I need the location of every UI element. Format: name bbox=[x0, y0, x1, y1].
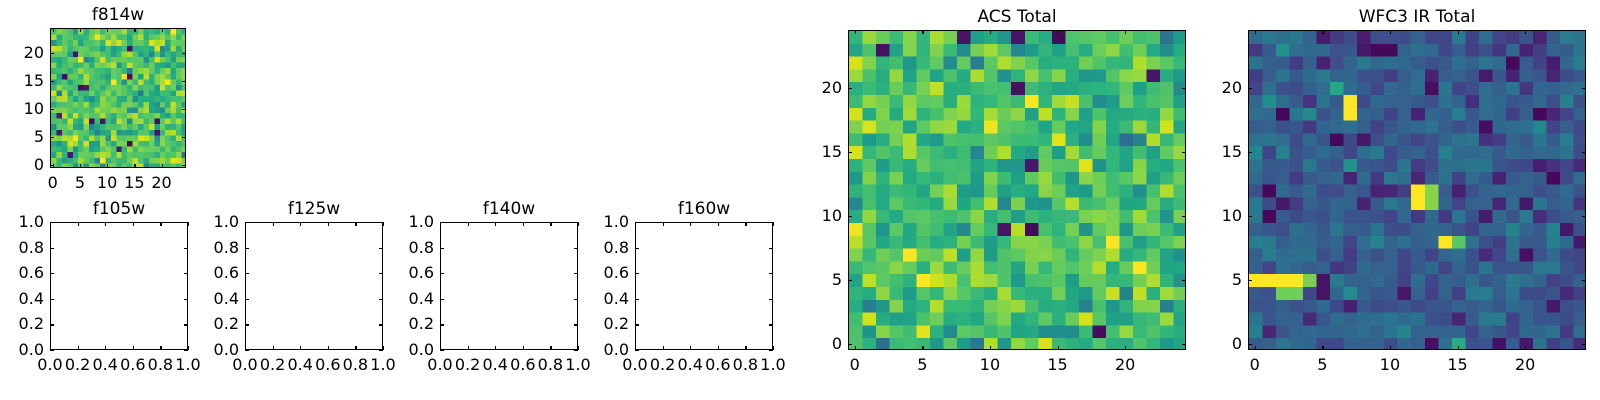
heatmap-image-wfc3-ir-total bbox=[1249, 31, 1586, 350]
xticklabel-wfc3-ir-total-3: 15 bbox=[1447, 357, 1467, 373]
yticklabel-f140w-1: 0.2 bbox=[392, 316, 434, 332]
yticklabel-f814w-4: 20 bbox=[2, 45, 44, 61]
yticklabel-wfc3-ir-total-1: 5 bbox=[1200, 272, 1242, 288]
ytick-f160w-0 bbox=[635, 350, 639, 351]
subplot-title-f140w: f140w bbox=[440, 200, 578, 218]
yticklabel-f814w-3: 15 bbox=[2, 73, 44, 89]
xtick-top-f160w-5 bbox=[773, 222, 774, 226]
xticklabel-f105w-1: 0.2 bbox=[65, 357, 90, 373]
xticklabel-f125w-4: 0.8 bbox=[343, 357, 368, 373]
yticklabel-wfc3-ir-total-0: 0 bbox=[1200, 336, 1242, 352]
yticklabel-f140w-4: 0.8 bbox=[392, 240, 434, 256]
yticklabel-wfc3-ir-total-2: 10 bbox=[1200, 208, 1242, 224]
yticklabel-f814w-2: 10 bbox=[2, 101, 44, 117]
yticklabel-f160w-3: 0.6 bbox=[587, 265, 629, 281]
xticklabel-f125w-3: 0.6 bbox=[315, 357, 340, 373]
subplot-wfc3-ir-total: WFC3 IR Total0510152005101520 bbox=[0, 0, 1600, 400]
yticklabel-f105w-4: 0.8 bbox=[2, 240, 44, 256]
yticklabel-f140w-5: 1.0 bbox=[392, 214, 434, 230]
xtick-f105w-5 bbox=[188, 346, 189, 350]
xticklabel-f105w-4: 0.8 bbox=[148, 357, 173, 373]
yticklabel-f125w-0: 0.0 bbox=[197, 342, 239, 358]
xtick-top-f125w-5 bbox=[383, 222, 384, 226]
yticklabel-f105w-3: 0.6 bbox=[2, 265, 44, 281]
ytick-right-f125w-0 bbox=[379, 350, 383, 351]
yticklabel-acs-total-4: 20 bbox=[800, 80, 842, 96]
yticklabel-f140w-3: 0.6 bbox=[392, 265, 434, 281]
yticklabel-f140w-2: 0.4 bbox=[392, 291, 434, 307]
xticklabel-f160w-2: 0.4 bbox=[677, 357, 702, 373]
xticklabel-f814w-2: 10 bbox=[97, 175, 117, 191]
xticklabel-f125w-0: 0.0 bbox=[232, 357, 257, 373]
yticklabel-acs-total-2: 10 bbox=[800, 208, 842, 224]
xticklabel-f105w-3: 0.6 bbox=[120, 357, 145, 373]
xticklabel-f814w-0: 0 bbox=[48, 175, 58, 191]
xticklabel-f105w-0: 0.0 bbox=[37, 357, 62, 373]
xticklabel-wfc3-ir-total-2: 10 bbox=[1380, 357, 1400, 373]
yticklabel-f125w-5: 1.0 bbox=[197, 214, 239, 230]
ytick-f105w-0 bbox=[50, 350, 54, 351]
ytick-right-f160w-0 bbox=[769, 350, 773, 351]
subplot-title-f814w: f814w bbox=[50, 6, 186, 24]
axes-f814w[interactable] bbox=[50, 28, 186, 168]
axes-f125w[interactable] bbox=[245, 222, 383, 350]
yticklabel-f125w-4: 0.8 bbox=[197, 240, 239, 256]
yticklabel-f160w-5: 1.0 bbox=[587, 214, 629, 230]
yticklabel-f105w-1: 0.2 bbox=[2, 316, 44, 332]
yticklabel-wfc3-ir-total-3: 15 bbox=[1200, 144, 1242, 160]
subplot-title-wfc3-ir-total: WFC3 IR Total bbox=[1248, 8, 1586, 26]
xticklabel-acs-total-4: 20 bbox=[1115, 357, 1135, 373]
xticklabel-acs-total-0: 0 bbox=[850, 357, 860, 373]
ytick-right-f105w-0 bbox=[184, 350, 188, 351]
yticklabel-f105w-2: 0.4 bbox=[2, 291, 44, 307]
xticklabel-f160w-0: 0.0 bbox=[622, 357, 647, 373]
yticklabel-f814w-1: 5 bbox=[2, 129, 44, 145]
xtick-f160w-5 bbox=[773, 346, 774, 350]
xticklabel-f140w-4: 0.8 bbox=[538, 357, 563, 373]
yticklabel-f105w-5: 1.0 bbox=[2, 214, 44, 230]
yticklabel-wfc3-ir-total-4: 20 bbox=[1200, 80, 1242, 96]
yticklabel-f125w-1: 0.2 bbox=[197, 316, 239, 332]
matplotlib-figure: f814w0510152005101520f105w0.00.20.40.60.… bbox=[0, 0, 1600, 400]
xticklabel-wfc3-ir-total-0: 0 bbox=[1250, 357, 1260, 373]
yticklabel-f160w-2: 0.4 bbox=[587, 291, 629, 307]
yticklabel-f125w-2: 0.4 bbox=[197, 291, 239, 307]
yticklabel-f160w-4: 0.8 bbox=[587, 240, 629, 256]
heatmap-image-f814w bbox=[51, 29, 186, 168]
yticklabel-acs-total-3: 15 bbox=[800, 144, 842, 160]
xticklabel-f105w-5: 1.0 bbox=[175, 357, 200, 373]
xticklabel-f814w-1: 5 bbox=[75, 175, 85, 191]
xticklabel-f105w-2: 0.4 bbox=[92, 357, 117, 373]
yticklabel-f160w-1: 0.2 bbox=[587, 316, 629, 332]
xticklabel-f125w-2: 0.4 bbox=[287, 357, 312, 373]
xticklabel-f125w-1: 0.2 bbox=[260, 357, 285, 373]
xticklabel-f160w-5: 1.0 bbox=[760, 357, 785, 373]
xticklabel-f140w-0: 0.0 bbox=[427, 357, 452, 373]
xtick-top-f140w-5 bbox=[578, 222, 579, 226]
ytick-f125w-0 bbox=[245, 350, 249, 351]
subplot-title-f125w: f125w bbox=[245, 200, 383, 218]
axes-wfc3-ir-total[interactable] bbox=[1248, 30, 1586, 350]
xticklabel-f125w-5: 1.0 bbox=[370, 357, 395, 373]
xticklabel-f160w-4: 0.8 bbox=[733, 357, 758, 373]
xticklabel-f814w-4: 20 bbox=[151, 175, 171, 191]
xticklabel-acs-total-3: 15 bbox=[1047, 357, 1067, 373]
yticklabel-f160w-0: 0.0 bbox=[587, 342, 629, 358]
xticklabel-f140w-5: 1.0 bbox=[565, 357, 590, 373]
xticklabel-f160w-1: 0.2 bbox=[650, 357, 675, 373]
xticklabel-f160w-3: 0.6 bbox=[705, 357, 730, 373]
xticklabel-f140w-2: 0.4 bbox=[482, 357, 507, 373]
xtick-f140w-5 bbox=[578, 346, 579, 350]
xticklabel-wfc3-ir-total-4: 20 bbox=[1515, 357, 1535, 373]
xticklabel-f140w-3: 0.6 bbox=[510, 357, 535, 373]
xtick-top-f105w-5 bbox=[188, 222, 189, 226]
yticklabel-f814w-0: 0 bbox=[2, 157, 44, 173]
subplot-title-acs-total: ACS Total bbox=[848, 8, 1186, 26]
yticklabel-f125w-3: 0.6 bbox=[197, 265, 239, 281]
ytick-right-f140w-0 bbox=[574, 350, 578, 351]
xticklabel-wfc3-ir-total-1: 5 bbox=[1317, 357, 1327, 373]
xticklabel-acs-total-2: 10 bbox=[980, 357, 1000, 373]
yticklabel-f105w-0: 0.0 bbox=[2, 342, 44, 358]
yticklabel-f140w-0: 0.0 bbox=[392, 342, 434, 358]
axes-acs-total[interactable] bbox=[848, 30, 1186, 350]
axes-f140w[interactable] bbox=[440, 222, 578, 350]
yticklabel-acs-total-1: 5 bbox=[800, 272, 842, 288]
axes-f105w[interactable] bbox=[50, 222, 188, 350]
xticklabel-f140w-1: 0.2 bbox=[455, 357, 480, 373]
subplot-title-f160w: f160w bbox=[635, 200, 773, 218]
xticklabel-f814w-3: 15 bbox=[124, 175, 144, 191]
ytick-f140w-0 bbox=[440, 350, 444, 351]
xtick-f125w-5 bbox=[383, 346, 384, 350]
yticklabel-acs-total-0: 0 bbox=[800, 336, 842, 352]
xticklabel-acs-total-1: 5 bbox=[917, 357, 927, 373]
heatmap-image-acs-total bbox=[849, 31, 1186, 350]
subplot-title-f105w: f105w bbox=[50, 200, 188, 218]
axes-f160w[interactable] bbox=[635, 222, 773, 350]
